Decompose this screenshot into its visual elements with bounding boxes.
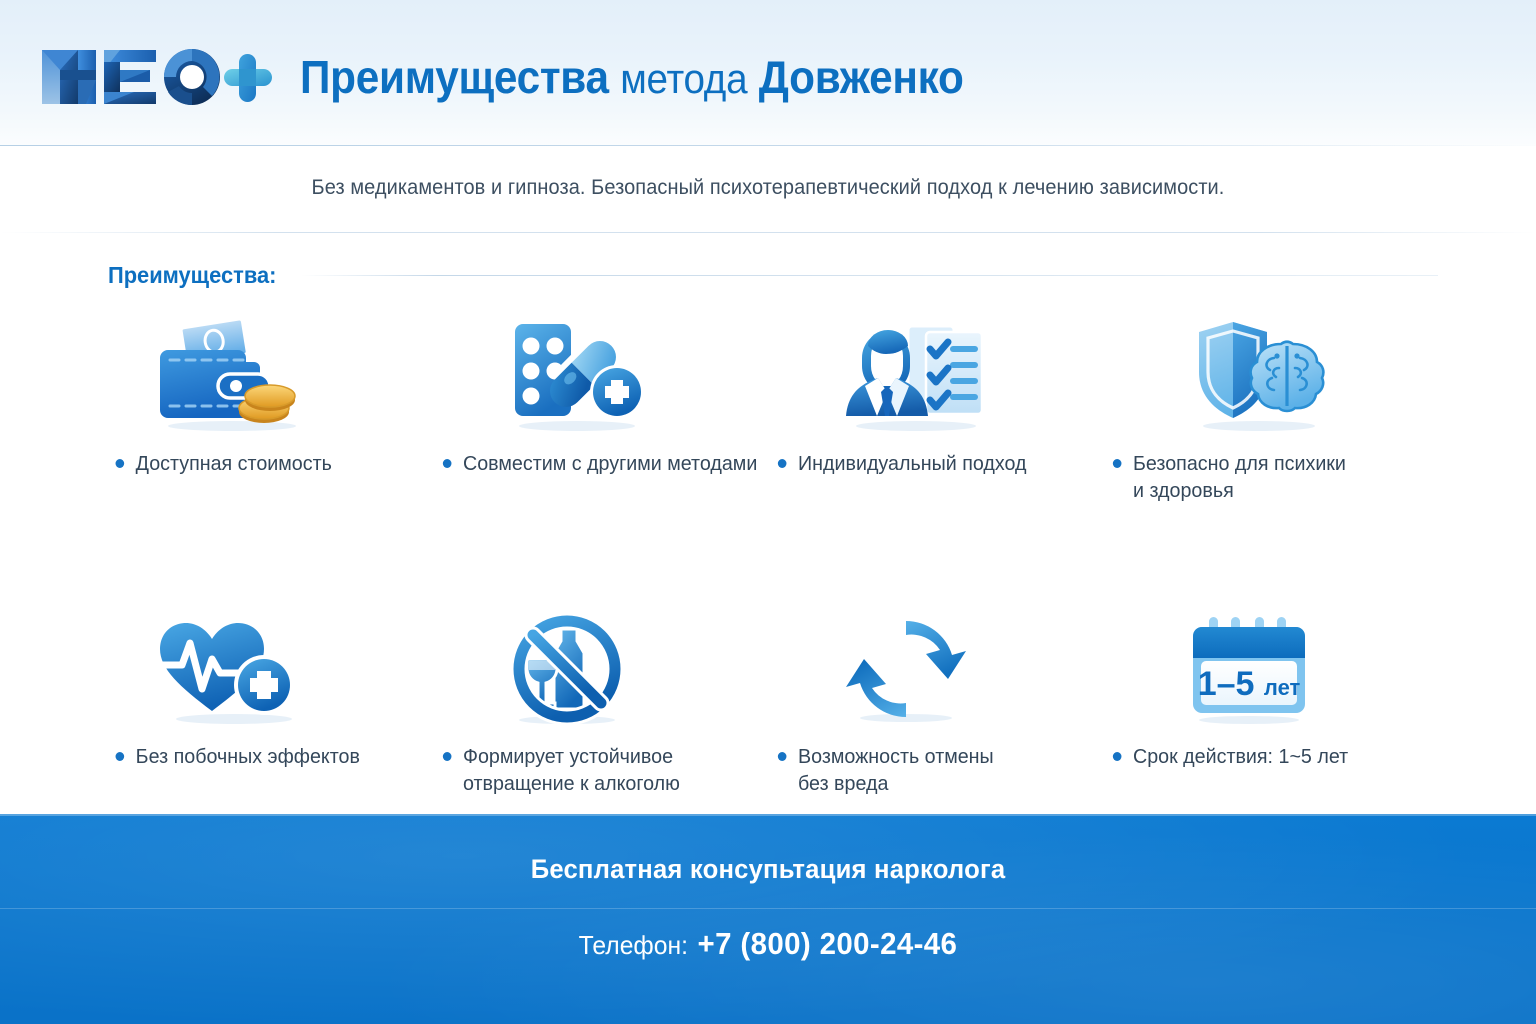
phone-label: Телефон: xyxy=(579,930,688,960)
benefit-item-7[interactable]: Возможность отмены без вреда xyxy=(774,601,1109,798)
bullet-dot-icon xyxy=(116,459,125,468)
refresh-cycle-icon xyxy=(840,613,980,725)
wallet-coins-icon xyxy=(152,316,322,432)
benefit-label: Индивидуальный подход xyxy=(798,450,1026,477)
benefits-row-1: Доступная стоимость xyxy=(104,306,1444,505)
page-title: Преимущества метода Довженко xyxy=(300,54,964,100)
benefit-label-row: Доступная стоимость xyxy=(104,432,426,477)
pills-capsule-plus-icon xyxy=(501,316,661,432)
benefit-label: Совместим с другими методами xyxy=(463,450,757,477)
neo-plus-logo xyxy=(38,44,274,110)
benefit-item-8[interactable]: 1–5 лет Срок действия: 1~5 лет xyxy=(1109,601,1444,798)
coin-stack xyxy=(239,385,295,423)
section-divider xyxy=(301,275,1438,276)
benefit-label: Без побочных эффектов xyxy=(136,743,360,770)
benefit-label-row: Возможность отмены без вреда xyxy=(774,725,1096,798)
benefit-label-row: Безопасно для психики и здоровья xyxy=(1109,432,1431,505)
title-part-3: Довженко xyxy=(759,51,964,103)
benefits-row-2: Без побочных эффектов xyxy=(104,601,1444,798)
benefit-icon-slot xyxy=(104,306,439,432)
bullet-dot-icon xyxy=(116,752,125,761)
benefit-icon-slot xyxy=(774,306,1109,432)
benefit-label-row: Индивидуальный подход xyxy=(774,432,1096,477)
no-alcohol-icon xyxy=(501,613,641,725)
title-part-1: Преимущества xyxy=(300,51,609,103)
bullet-dot-icon xyxy=(778,459,787,468)
benefit-item-1[interactable]: Доступная стоимость xyxy=(104,306,439,505)
logo-letter-o xyxy=(164,49,220,105)
benefit-icon-slot xyxy=(439,601,774,725)
bullet-dot-icon xyxy=(1113,459,1122,468)
benefit-item-5[interactable]: Без побочных эффектов xyxy=(104,601,439,798)
bullet-dot-icon xyxy=(1113,752,1122,761)
benefit-item-2[interactable]: Совместим с другими методами xyxy=(439,306,774,505)
subtitle-text: Без медикаментов и гипноза. Безопасный п… xyxy=(38,176,1497,200)
benefit-label: Возможность отмены без вреда xyxy=(798,743,994,798)
infographic-poster: Преимущества метода Довженко Без медикам… xyxy=(0,0,1536,1024)
benefit-label: Доступная стоимость xyxy=(136,450,332,477)
benefit-icon-slot xyxy=(439,306,774,432)
footer-cta-band: Бесплатная консупьтация нарколога Телефо… xyxy=(0,814,1536,1024)
benefit-icon-slot xyxy=(1109,306,1444,432)
footer-phone-row[interactable]: Телефон:+7 (800) 200-24-46 xyxy=(38,926,1497,962)
benefit-label-row: Совместим с другими методами xyxy=(439,432,761,477)
logo-letter-e xyxy=(104,50,156,104)
benefit-label: Срок действия: 1~5 лет xyxy=(1133,743,1348,770)
doctor-checklist-icon xyxy=(840,316,1000,432)
shield-brain-icon xyxy=(1179,316,1339,432)
subtitle-divider xyxy=(0,232,1536,233)
benefits-grid: Доступная стоимость xyxy=(104,306,1444,798)
section-heading: Преимущества: xyxy=(108,262,276,289)
benefits-section-header: Преимущества: xyxy=(108,262,1438,289)
benefit-label: Формирует устойчивое отвращение к алкого… xyxy=(463,743,680,798)
benefit-icon-slot xyxy=(774,601,1109,725)
footer-headline: Бесплатная консупьтация нарколога xyxy=(38,854,1497,885)
benefit-item-4[interactable]: Безопасно для психики и здоровья xyxy=(1109,306,1444,505)
calendar-years-icon: 1–5 лет xyxy=(1179,613,1329,725)
benefit-item-3[interactable]: Индивидуальный подход xyxy=(774,306,1109,505)
header-content: Преимущества метода Довженко xyxy=(38,44,1021,110)
bullet-dot-icon xyxy=(443,752,452,761)
benefit-icon-slot: 1–5 лет xyxy=(1109,601,1444,725)
logo-plus-symbol xyxy=(224,54,272,102)
benefit-icon-slot xyxy=(104,601,439,725)
heart-pulse-plus-icon xyxy=(152,613,322,725)
benefit-label-row: Формирует устойчивое отвращение к алкого… xyxy=(439,725,761,798)
title-part-2: метода xyxy=(620,55,747,102)
benefit-label-row: Срок действия: 1~5 лет xyxy=(1109,725,1431,770)
benefit-label-row: Без побочных эффектов xyxy=(104,725,426,770)
bullet-dot-icon xyxy=(778,752,787,761)
header-band: Преимущества метода Довженко xyxy=(0,0,1536,146)
benefit-item-6[interactable]: Формирует устойчивое отвращение к алкого… xyxy=(439,601,774,798)
bullet-dot-icon xyxy=(443,459,452,468)
phone-number[interactable]: +7 (800) 200-24-46 xyxy=(698,926,958,961)
benefit-label: Безопасно для психики и здоровья xyxy=(1133,450,1346,505)
footer-divider xyxy=(0,908,1536,909)
brain-shape xyxy=(1251,342,1324,411)
logo-letter-h xyxy=(42,50,96,104)
